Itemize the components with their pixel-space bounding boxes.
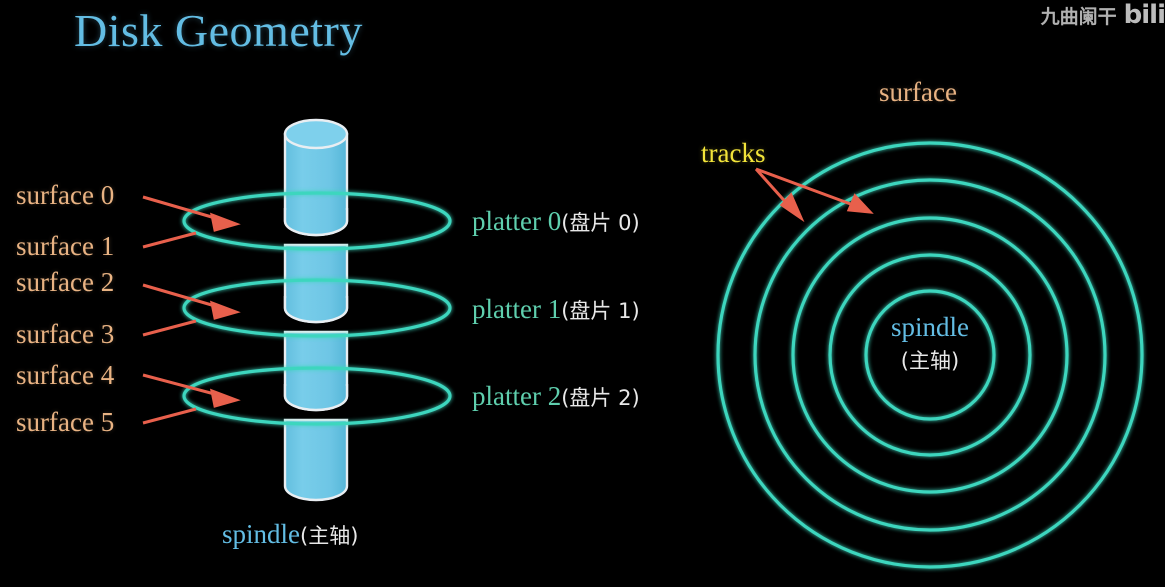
platter-label-2: platter 2(盘片 2) — [472, 383, 640, 410]
spindle-top-cap — [285, 120, 347, 148]
spindle-segment-1 — [285, 120, 347, 235]
surface-label-0: surface 0 — [16, 182, 114, 209]
platter-label-0: platter 0(盘片 0) — [472, 208, 640, 235]
spindle-caption-en: spindle — [222, 519, 300, 549]
spindle-caption: spindle(主轴) — [222, 521, 358, 548]
arrow-surface-1 — [143, 233, 196, 247]
page-title: Disk Geometry — [74, 8, 363, 54]
surface-label-2: surface 2 — [16, 269, 114, 296]
tracks-leader-arrows — [756, 169, 870, 218]
spindle-segment-2 — [285, 245, 347, 322]
spindle-front-overlays — [285, 208, 347, 410]
platter-label-2-en: platter 2 — [472, 381, 561, 411]
arrow-surface-0 — [143, 197, 236, 230]
surface-label-right: surface — [879, 79, 957, 106]
platter-label-0-cn: (盘片 0) — [561, 211, 639, 235]
spindle-segment-3 — [285, 332, 347, 410]
surface-label-5: surface 5 — [16, 409, 114, 436]
platter-ellipse-1 — [184, 280, 450, 336]
arrow-surface-4 — [143, 375, 236, 406]
bilibili-watermark: 九曲阑干 bili — [1041, 0, 1165, 30]
arrow-tracks-inner — [756, 169, 801, 218]
platter-ellipse-2 — [184, 368, 450, 424]
platter-label-0-en: platter 0 — [472, 206, 561, 236]
bilibili-logo-icon: bili — [1124, 0, 1165, 30]
platter-ellipses — [184, 193, 450, 424]
surface-label-4: surface 4 — [16, 362, 114, 389]
arrow-surface-5 — [143, 409, 196, 423]
platter-label-1: platter 1(盘片 1) — [472, 296, 640, 323]
platter-label-1-cn: (盘片 1) — [561, 299, 639, 323]
watermark-username: 九曲阑干 — [1041, 2, 1117, 29]
surface-label-1: surface 1 — [16, 233, 114, 260]
spindle-caption-cn: (主轴) — [300, 524, 358, 548]
arrow-tracks-outer — [756, 169, 870, 212]
platter-label-2-cn: (盘片 2) — [561, 386, 639, 410]
platter-label-1-en: platter 1 — [472, 294, 561, 324]
spindle-segment-4 — [285, 420, 347, 500]
platter-ellipse-0 — [184, 193, 450, 249]
spindle-cylinder — [285, 120, 347, 500]
surface-leader-arrows — [143, 197, 236, 423]
surface-label-3: surface 3 — [16, 321, 114, 348]
disk-center-spindle-label: spindle (主轴) — [830, 312, 1030, 375]
arrow-surface-2 — [143, 285, 236, 318]
disk-center-spindle-cn: (主轴) — [830, 345, 1030, 375]
diagram-graphics-layer — [0, 0, 1165, 587]
disk-center-spindle-en: spindle — [830, 312, 1030, 343]
slide-canvas: Disk Geometry 九曲阑干 bili surface 0 surfac… — [0, 0, 1165, 587]
tracks-label: tracks — [701, 140, 765, 167]
arrow-surface-3 — [143, 321, 196, 335]
